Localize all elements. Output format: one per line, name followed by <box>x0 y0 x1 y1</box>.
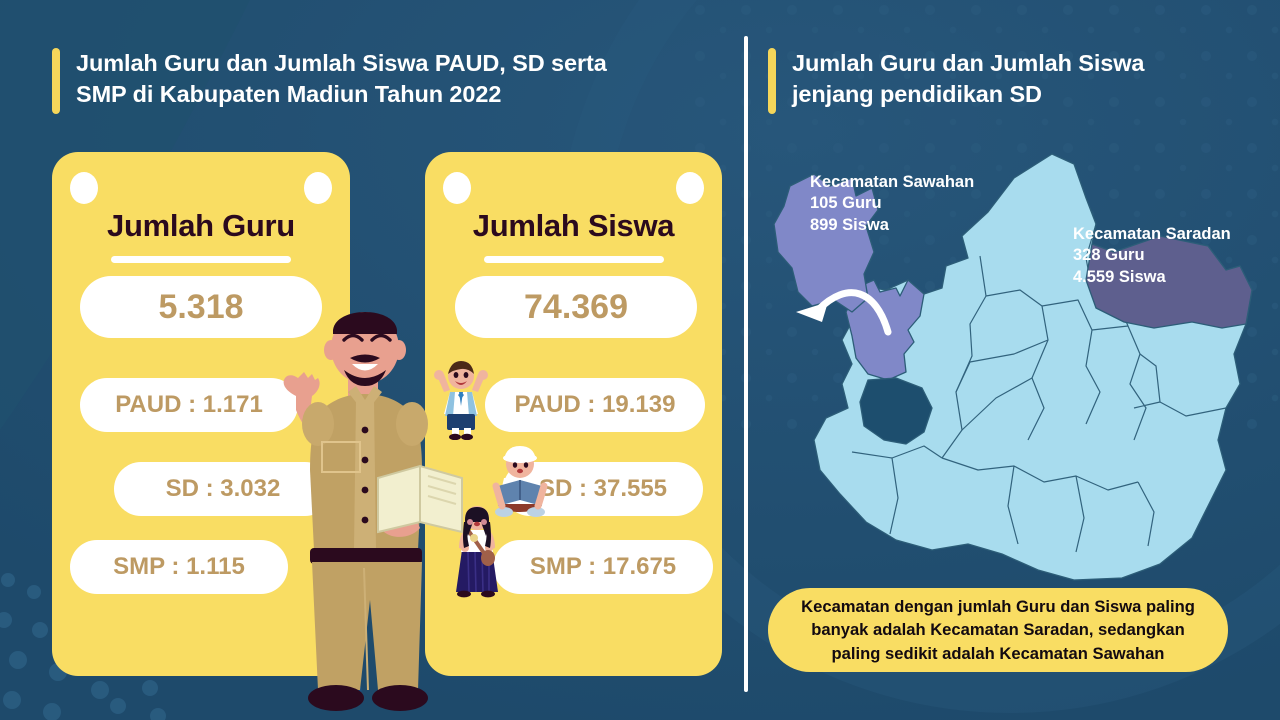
card-hole-right-icon <box>676 172 704 204</box>
card-hole-right-icon <box>304 172 332 204</box>
card-hole-left-icon <box>443 172 471 204</box>
student-girl-illustration <box>448 506 506 602</box>
left-title-text: Jumlah Guru dan Jumlah Siswa PAUD, SD se… <box>76 48 607 111</box>
student-cheering-illustration <box>430 358 492 440</box>
title-accent-bar <box>52 48 60 114</box>
title-accent-bar <box>768 48 776 114</box>
card-heading-rule <box>484 256 664 263</box>
siswa-paud-value: PAUD : 19.139 <box>485 378 705 432</box>
right-panel-title: Jumlah Guru dan Jumlah Siswa jenjang pen… <box>768 48 1144 114</box>
right-title-text: Jumlah Guru dan Jumlah Siswa jenjang pen… <box>792 48 1144 111</box>
left-panel-title: Jumlah Guru dan Jumlah Siswa PAUD, SD se… <box>52 48 607 114</box>
card-heading-siswa: Jumlah Siswa <box>425 208 722 244</box>
map-label-sawahan: Kecamatan Sawahan 105 Guru 899 Siswa <box>810 172 974 236</box>
card-heading-rule <box>111 256 291 263</box>
card-heading-guru: Jumlah Guru <box>52 208 350 244</box>
infographic-canvas: Jumlah Guru dan Jumlah Siswa PAUD, SD se… <box>0 0 1280 720</box>
card-hole-left-icon <box>70 172 98 204</box>
map-label-saradan: Kecamatan Saradan 328 Guru 4.559 Siswa <box>1073 224 1231 288</box>
siswa-total-value: 74.369 <box>455 276 697 338</box>
siswa-smp-value: SMP : 17.675 <box>493 540 713 594</box>
panel-divider <box>744 36 748 692</box>
map-caption: Kecamatan dengan jumlah Guru dan Siswa p… <box>768 588 1228 672</box>
